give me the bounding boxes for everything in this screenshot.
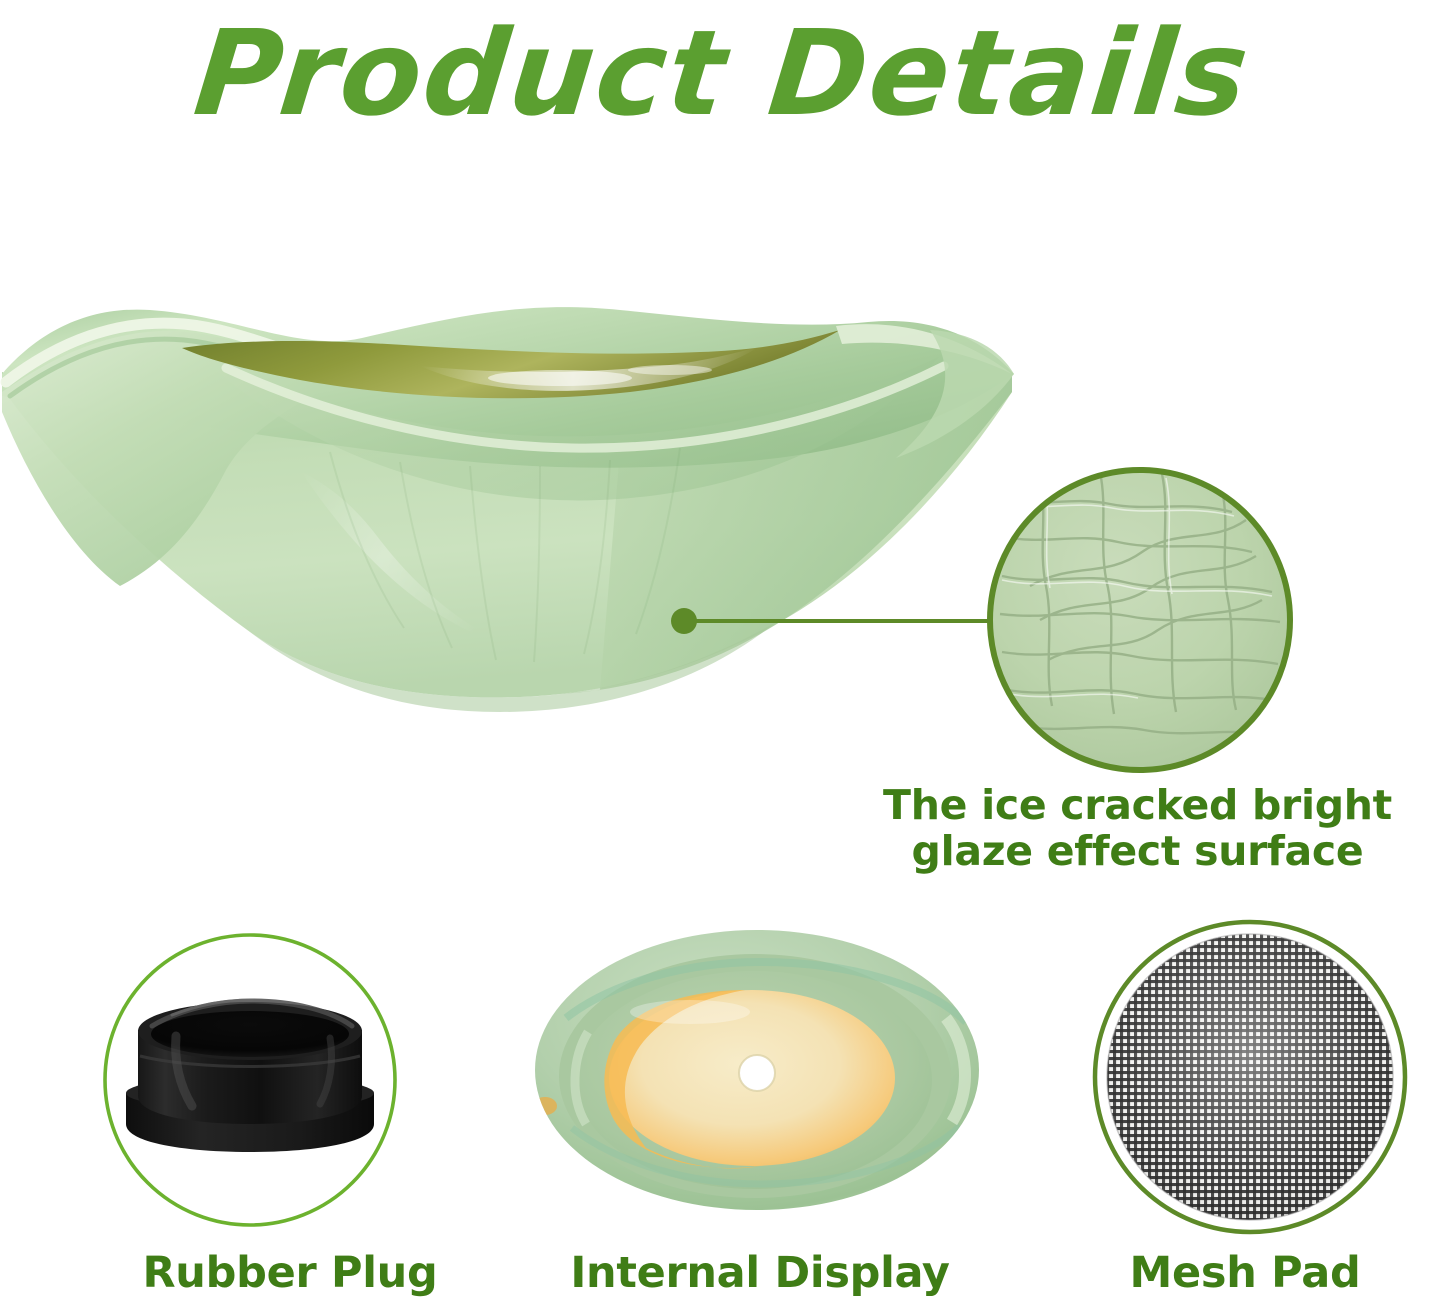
- rubber-plug-photo: [105, 935, 395, 1225]
- crackle-callout-line-1: The ice cracked bright: [830, 782, 1445, 828]
- bowl-inner-specular-2: [628, 365, 712, 375]
- mesh-pad-shading: [1100, 927, 1400, 1227]
- mesh-pad-weave: [1100, 927, 1400, 1227]
- internal-display-soft-glow: [630, 1000, 750, 1024]
- ceramic-bowl-photo: [2, 307, 1014, 712]
- product-details-infographic: Product Details: [0, 0, 1445, 1310]
- artwork-layer: [0, 0, 1445, 1310]
- part-label-mesh-pad: Mesh Pad: [1050, 1248, 1440, 1298]
- rubber-plug-cavity: [151, 1011, 349, 1057]
- internal-display-photo: [533, 930, 979, 1210]
- mesh-pad-photo: [1095, 922, 1405, 1232]
- callout-anchor-dot: [671, 608, 697, 634]
- internal-display-glaze-fleck: [533, 1097, 557, 1115]
- crackle-callout-line-2: glaze effect surface: [830, 828, 1445, 874]
- part-label-rubber-plug: Rubber Plug: [30, 1248, 550, 1298]
- crackle-callout-label: The ice cracked bright glaze effect surf…: [830, 782, 1445, 875]
- part-label-internal-display: Internal Display: [500, 1248, 1020, 1298]
- bowl-inner-specular-1: [488, 370, 632, 386]
